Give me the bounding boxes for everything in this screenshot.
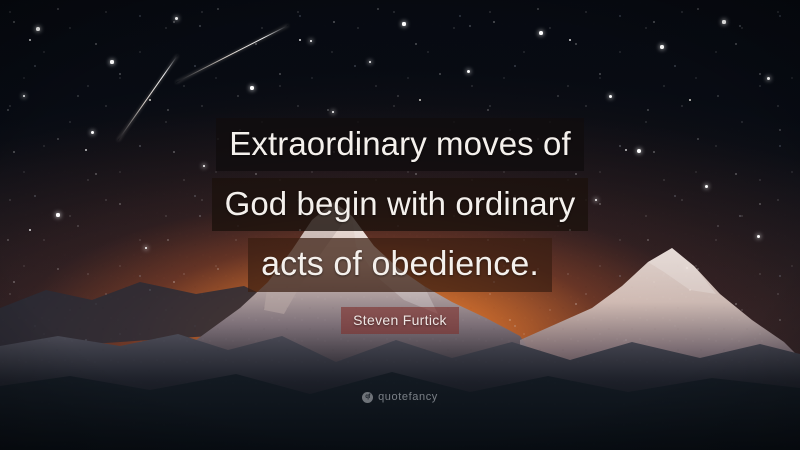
quote-line-1: Extraordinary moves of [216, 118, 584, 171]
quote-author: Steven Furtick [341, 307, 459, 334]
quotefancy-badge-icon: qf [362, 392, 373, 403]
attribution-wrap: Steven Furtick [0, 307, 800, 334]
quote-line-3: acts of obedience. [248, 238, 552, 292]
quotefancy-watermark-label: quotefancy [378, 391, 438, 403]
quotefancy-watermark[interactable]: qf quotefancy [0, 391, 800, 403]
quote-line-2: God begin with ordinary [212, 178, 589, 231]
quote-block: Extraordinary moves of God begin with or… [0, 118, 800, 299]
quote-poster: Extraordinary moves of God begin with or… [0, 0, 800, 450]
